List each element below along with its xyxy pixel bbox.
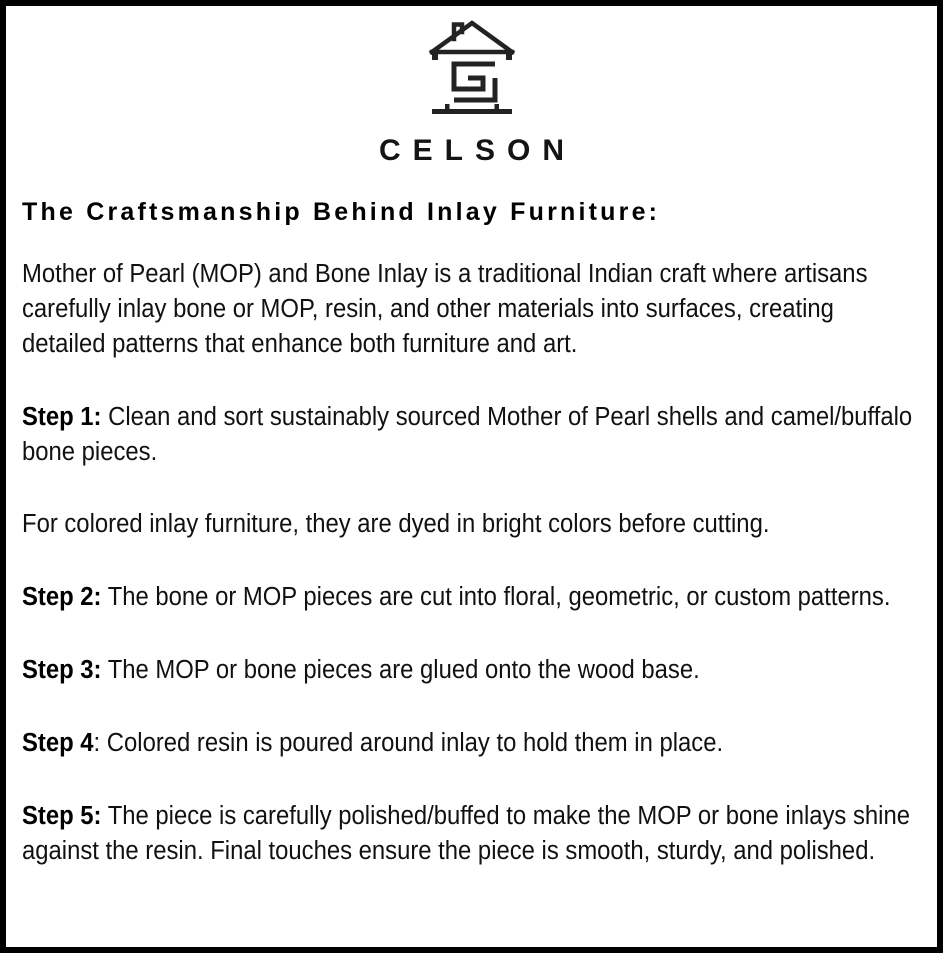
step-5-paragraph: Step 5: The piece is carefully polished/… (22, 799, 919, 869)
step-4-text: : Colored resin is poured around inlay t… (94, 729, 724, 757)
step-3-paragraph: Step 3: The MOP or bone pieces are glued… (22, 653, 919, 688)
brand-wordmark: CELSON (16, 136, 927, 166)
poster-card: CELSON The Craftsmanship Behind Inlay Fu… (0, 0, 943, 953)
step-3-label: Step 3: (22, 656, 102, 684)
step-3-text: The MOP or bone pieces are glued onto th… (102, 656, 700, 684)
step-4-paragraph: Step 4: Colored resin is poured around i… (22, 726, 919, 761)
step-2-text: The bone or MOP pieces are cut into flor… (102, 583, 891, 611)
intro-paragraph: Mother of Pearl (MOP) and Bone Inlay is … (22, 257, 919, 362)
dyed-note-paragraph: For colored inlay furniture, they are dy… (22, 507, 919, 542)
body-copy: Mother of Pearl (MOP) and Bone Inlay is … (22, 257, 927, 869)
house-with-c-monogram-logo-icon (420, 16, 524, 118)
step-4-label: Step 4 (22, 729, 94, 757)
step-5-label: Step 5: (22, 802, 102, 830)
step-2-paragraph: Step 2: The bone or MOP pieces are cut i… (22, 580, 919, 615)
page-title: The Craftsmanship Behind Inlay Furniture… (22, 199, 927, 227)
step-1-paragraph: Step 1: Clean and sort sustainably sourc… (22, 400, 919, 470)
step-2-label: Step 2: (22, 583, 102, 611)
step-5-text: The piece is carefully polished/buffed t… (22, 802, 910, 865)
poster-content: CELSON The Craftsmanship Behind Inlay Fu… (6, 6, 937, 947)
brand-block: CELSON (16, 12, 927, 166)
step-1-label: Step 1: (22, 403, 102, 431)
step-1-text: Clean and sort sustainably sourced Mothe… (22, 403, 912, 466)
